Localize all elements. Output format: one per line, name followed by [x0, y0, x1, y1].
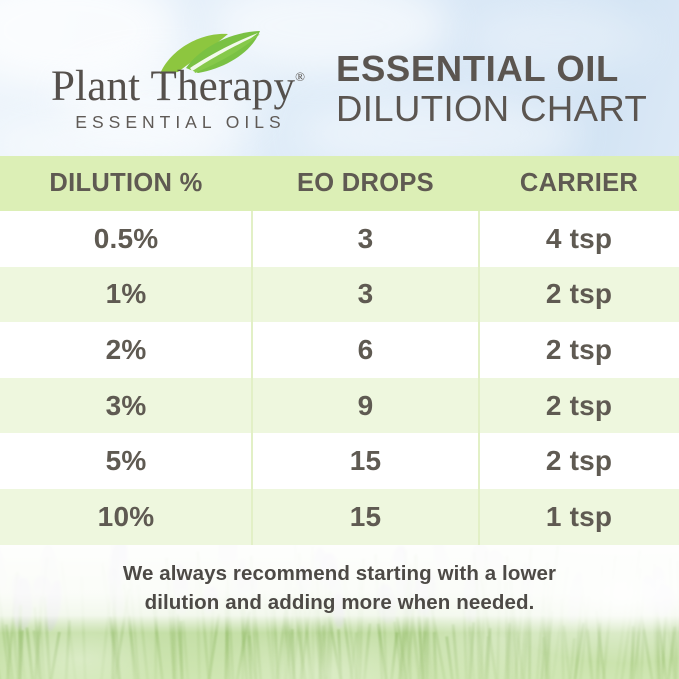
footer-note-line-2: dilution and adding more when needed. [0, 588, 679, 617]
table-row: 10% 15 1 tsp [0, 489, 679, 545]
header-banner: Plant Therapy® ESSENTIAL OILS ESSENTIAL … [0, 0, 679, 156]
cell-carrier: 4 tsp [479, 223, 679, 255]
cell-drops: 3 [252, 278, 479, 310]
dilution-table: DILUTION % EO DROPS CARRIER 0.5% 3 4 tsp… [0, 156, 679, 545]
cell-carrier: 2 tsp [479, 390, 679, 422]
page-title: ESSENTIAL OIL DILUTION CHART [336, 50, 652, 129]
table-header-row: DILUTION % EO DROPS CARRIER [0, 156, 679, 211]
cell-drops: 15 [252, 501, 479, 533]
cell-drops: 15 [252, 445, 479, 477]
cell-dilution: 2% [0, 334, 252, 366]
brand-logo: Plant Therapy® ESSENTIAL OILS [44, 28, 312, 133]
dilution-chart-infographic: Plant Therapy® ESSENTIAL OILS ESSENTIAL … [0, 0, 679, 679]
footer-banner: We always recommend starting with a lowe… [0, 545, 679, 679]
table-row: 2% 6 2 tsp [0, 322, 679, 378]
cell-carrier: 1 tsp [479, 501, 679, 533]
table-row: 0.5% 3 4 tsp [0, 211, 679, 267]
cell-dilution: 5% [0, 445, 252, 477]
cell-drops: 6 [252, 334, 479, 366]
title-line-2: DILUTION CHART [336, 89, 652, 129]
column-divider [478, 211, 480, 545]
footer-note: We always recommend starting with a lowe… [0, 559, 679, 617]
column-divider [251, 211, 253, 545]
footer-note-line-1: We always recommend starting with a lowe… [123, 562, 556, 585]
brand-name: Plant Therapy® [44, 64, 312, 109]
cell-dilution: 3% [0, 390, 252, 422]
brand-name-text: Plant Therapy [51, 63, 295, 110]
title-line-1: ESSENTIAL OIL [336, 50, 652, 88]
cell-carrier: 2 tsp [479, 334, 679, 366]
cell-dilution: 10% [0, 501, 252, 533]
column-header-eo-drops: EO DROPS [252, 169, 479, 198]
cell-drops: 9 [252, 390, 479, 422]
column-header-carrier: CARRIER [479, 169, 679, 198]
brand-tagline: ESSENTIAL OILS [44, 112, 312, 133]
cell-carrier: 2 tsp [479, 445, 679, 477]
cell-drops: 3 [252, 223, 479, 255]
table-row: 5% 15 2 tsp [0, 433, 679, 489]
cell-carrier: 2 tsp [479, 278, 679, 310]
column-header-dilution: DILUTION % [0, 169, 252, 198]
cell-dilution: 1% [0, 278, 252, 310]
table-row: 3% 9 2 tsp [0, 378, 679, 434]
cell-dilution: 0.5% [0, 223, 252, 255]
table-row: 1% 3 2 tsp [0, 267, 679, 323]
registered-mark: ® [295, 69, 305, 84]
